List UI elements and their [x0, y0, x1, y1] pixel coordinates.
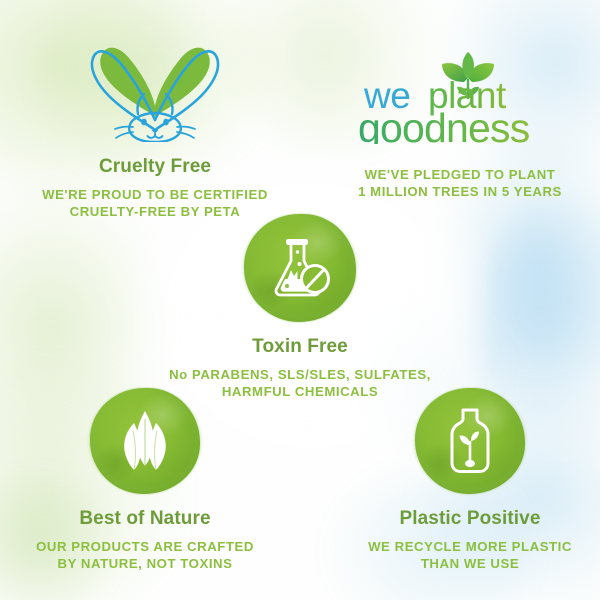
feature-we-plant-goodness: we plant goodness WE'VE PLEDGED TO PLANT… [330, 52, 590, 201]
subtitle-line: WE'RE PROUD TO BE CERTIFIED [10, 186, 300, 203]
feature-subtitle-plastic-positive: WE RECYCLE MORE PLASTIC THAN WE USE [325, 538, 600, 573]
subtitle-line: OUR PRODUCTS ARE CRAFTED [0, 538, 290, 555]
subtitle-line: WE'VE PLEDGED TO PLANT [330, 166, 590, 183]
subtitle-line: THAN WE USE [325, 555, 600, 572]
bottle-sprout-icon [442, 408, 498, 474]
feature-title-toxin-free: Toxin Free [155, 336, 445, 358]
svg-text:goodness: goodness [358, 105, 530, 144]
leaves-icon [114, 409, 176, 473]
infographic-canvas: Cruelty Free WE'RE PROUD TO BE CERTIFIED… [0, 0, 600, 600]
feature-cruelty-free: Cruelty Free WE'RE PROUD TO BE CERTIFIED… [10, 14, 300, 221]
feature-subtitle-best-of-nature: OUR PRODUCTS ARE CRAFTED BY NATURE, NOT … [0, 538, 290, 573]
subtitle-line: BY NATURE, NOT TOXINS [0, 555, 290, 572]
peta-bunny-heart-logo [10, 14, 300, 142]
feature-title-cruelty-free: Cruelty Free [10, 156, 300, 178]
badge-best-of-nature [90, 388, 200, 494]
we-plant-goodness-logo: we plant goodness [330, 52, 590, 144]
feature-title-best-of-nature: Best of Nature [0, 508, 290, 530]
subtitle-line: No PARABENS, SLS/SLES, SULFATES, [155, 366, 445, 383]
subtitle-line: WE RECYCLE MORE PLASTIC [325, 538, 600, 555]
feature-plastic-positive: Plastic Positive WE RECYCLE MORE PLASTIC… [325, 388, 600, 573]
flask-no-entry-icon [268, 237, 332, 299]
badge-plastic-positive [415, 388, 525, 494]
feature-best-of-nature: Best of Nature OUR PRODUCTS ARE CRAFTED … [0, 388, 290, 573]
subtitle-line: 1 MILLION TREES IN 5 YEARS [330, 183, 590, 200]
feature-toxin-free: Toxin Free No PARABENS, SLS/SLES, SULFAT… [155, 214, 445, 401]
feature-title-plastic-positive: Plastic Positive [325, 508, 600, 530]
feature-subtitle-we-plant-goodness: WE'VE PLEDGED TO PLANT 1 MILLION TREES I… [330, 166, 590, 201]
badge-toxin-free [244, 214, 356, 322]
